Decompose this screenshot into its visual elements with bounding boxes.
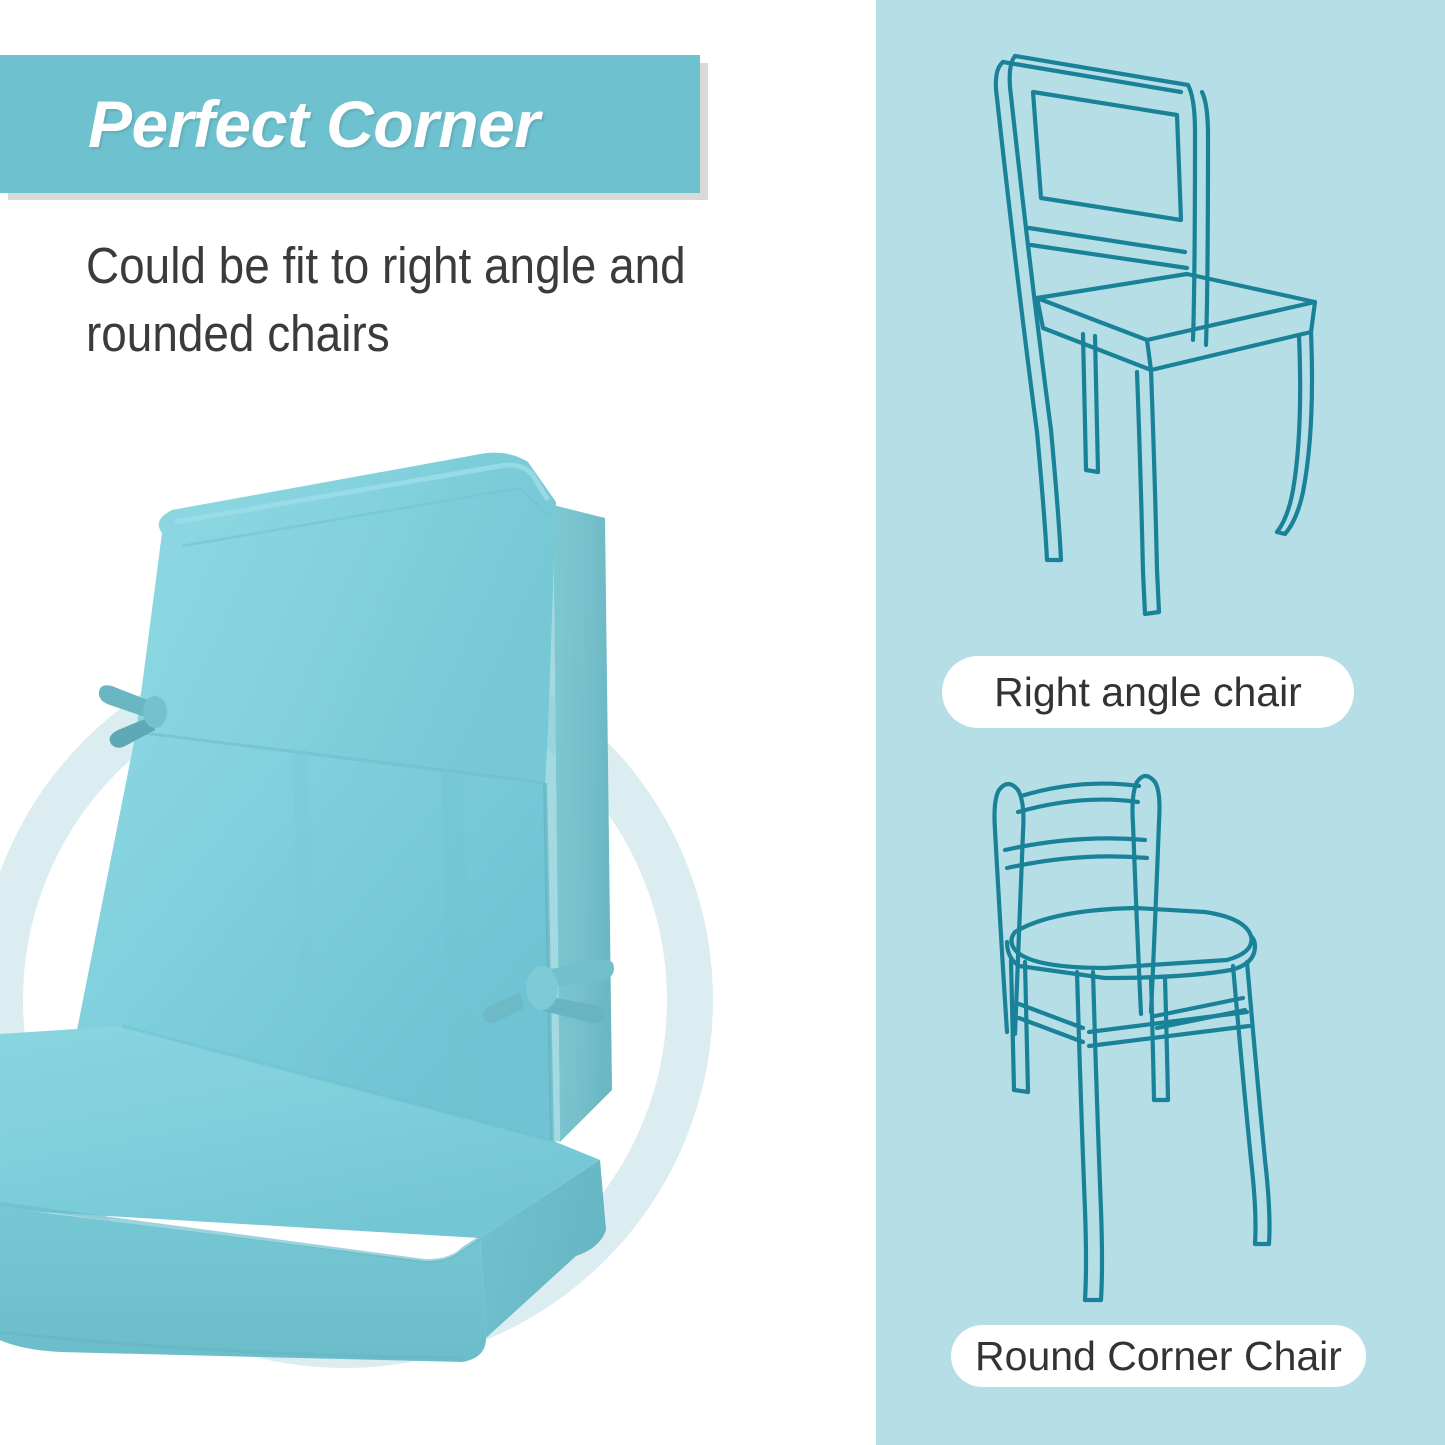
label-right-angle-chair: Right angle chair	[942, 656, 1354, 728]
page-title: Perfect Corner	[0, 86, 540, 162]
label-round-corner-chair: Round Corner Chair	[951, 1325, 1366, 1387]
subtitle-text: Could be fit to right angle and rounded …	[86, 232, 770, 368]
label-right-angle-chair-text: Right angle chair	[994, 669, 1302, 716]
label-round-corner-chair-text: Round Corner Chair	[975, 1333, 1342, 1380]
subtitle-line-1: Could be fit to right angle and	[86, 232, 770, 300]
header-banner: Perfect Corner	[0, 55, 700, 193]
round-corner-chair-illustration	[955, 760, 1335, 1315]
cushion-back-upper-pad	[136, 453, 556, 783]
infographic-canvas: Perfect Corner Could be fit to right ang…	[0, 0, 1445, 1445]
subtitle-line-2: rounded chairs	[86, 300, 770, 368]
cushion-back-gusset	[553, 505, 612, 1142]
right-angle-chair-illustration	[955, 40, 1325, 620]
product-photo	[0, 400, 876, 1445]
